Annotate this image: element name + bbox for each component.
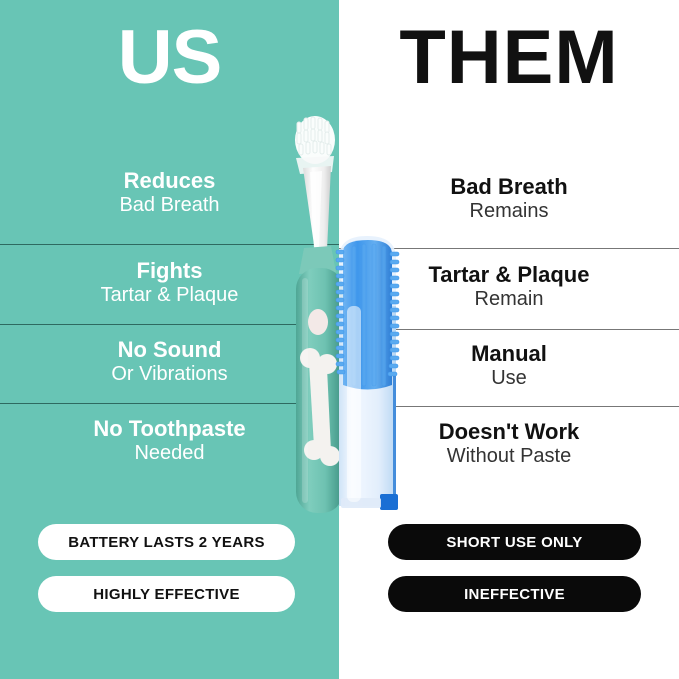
them-row-2-sub: Remain: [339, 287, 679, 311]
them-row-1-sub: Remains: [339, 199, 679, 223]
us-row-2: Fights Tartar & Plaque: [0, 245, 339, 324]
them-row-2: Tartar & Plaque Remain: [339, 249, 679, 329]
them-row-2-main: Tartar & Plaque: [339, 262, 679, 287]
comparison-infographic: US Reduces Bad Breath Fights Tartar & Pl…: [0, 0, 679, 679]
us-row-2-main: Fights: [0, 258, 339, 283]
them-badge-1[interactable]: SHORT USE ONLY: [388, 524, 641, 560]
them-row-3-sub: Use: [339, 366, 679, 390]
us-row-1: Reduces Bad Breath: [0, 150, 339, 244]
us-badge-1[interactable]: BATTERY LASTS 2 YEARS: [38, 524, 295, 560]
them-row-3-main: Manual: [339, 341, 679, 366]
us-row-1-sub: Bad Breath: [0, 193, 339, 217]
us-row-3-main: No Sound: [0, 337, 339, 362]
us-column-title: US: [0, 20, 339, 96]
us-row-4-main: No Toothpaste: [0, 416, 339, 441]
them-row-4: Doesn't Work Without Paste: [339, 407, 679, 485]
us-badge-2[interactable]: HIGHLY EFFECTIVE: [38, 576, 295, 612]
us-row-3-sub: Or Vibrations: [0, 362, 339, 386]
them-column-title: THEM: [339, 20, 679, 96]
us-row-2-sub: Tartar & Plaque: [0, 283, 339, 307]
them-badge-2[interactable]: INEFFECTIVE: [388, 576, 641, 612]
us-row-3: No Sound Or Vibrations: [0, 325, 339, 403]
them-row-1: Bad Breath Remains: [339, 158, 679, 248]
them-row-4-sub: Without Paste: [339, 444, 679, 468]
them-row-1-main: Bad Breath: [339, 174, 679, 199]
us-row-1-main: Reduces: [0, 168, 339, 193]
them-row-3: Manual Use: [339, 330, 679, 406]
them-row-4-main: Doesn't Work: [339, 419, 679, 444]
us-row-4: No Toothpaste Needed: [0, 404, 339, 482]
us-row-4-sub: Needed: [0, 441, 339, 465]
